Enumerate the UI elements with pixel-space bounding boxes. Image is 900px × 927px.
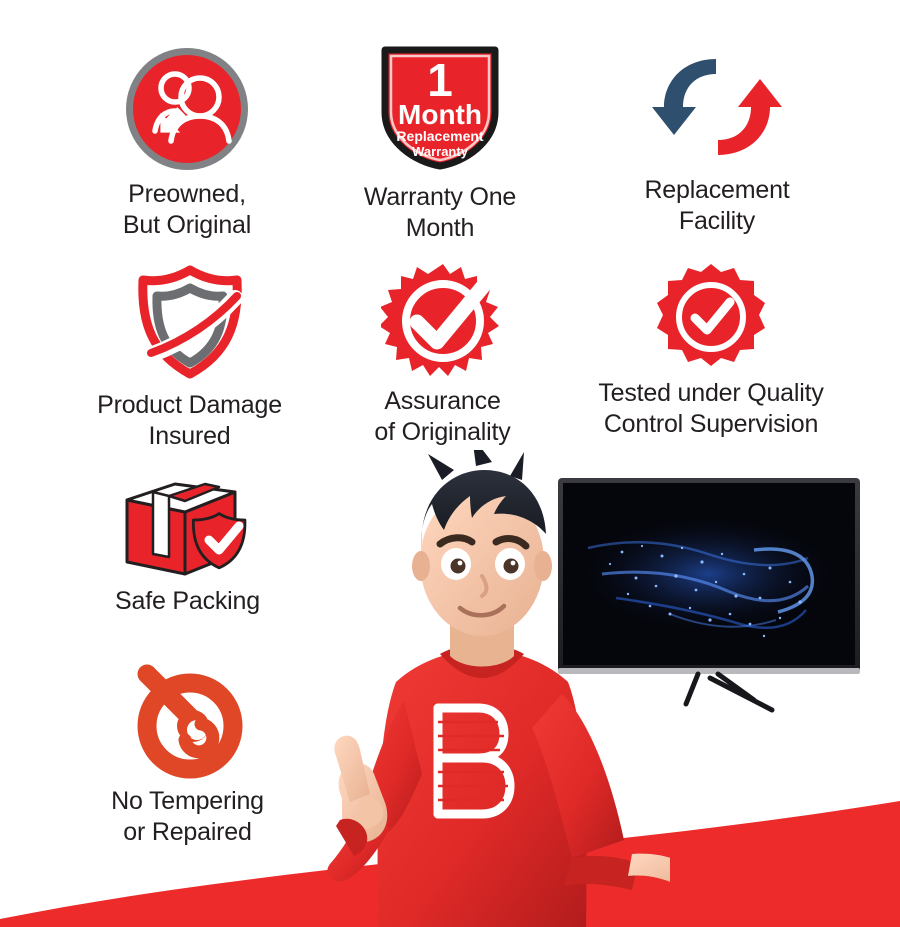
feature-caption: Replacement Facility — [644, 175, 789, 236]
badge-line-3: Replacement — [396, 128, 483, 144]
damage-shield-icon — [127, 262, 253, 384]
replacement-arrows-icon — [652, 45, 782, 169]
feature-caption: Assurance of Originality — [374, 386, 510, 447]
feature-caption: Warranty One Month — [364, 182, 516, 243]
feature-warranty: 1 Month Replacement Warranty Warranty On… — [330, 40, 550, 243]
feature-replacement: Replacement Facility — [592, 45, 842, 236]
feature-caption: Preowned, But Original — [123, 179, 251, 240]
feature-tamper: No Tempering or Repaired — [75, 662, 300, 847]
safe-packing-box-shield-icon — [113, 470, 263, 580]
badge-line-4: Warranty — [412, 144, 469, 159]
assurance-starburst-check-icon — [381, 262, 505, 380]
feature-packing: Safe Packing — [75, 470, 300, 617]
preowned-user-circle-icon — [123, 45, 251, 173]
feature-caption: Product Damage Insured — [97, 390, 282, 451]
feature-caption: Safe Packing — [115, 586, 260, 617]
hero-illustration — [300, 440, 900, 927]
no-tempering-wrench-icon — [127, 662, 249, 780]
feature-damage: Product Damage Insured — [62, 262, 317, 451]
feature-caption: No Tempering or Repaired — [111, 786, 264, 847]
feature-tested: Tested under Quality Control Supervision — [566, 262, 856, 439]
warranty-shield-badge-icon: 1 Month Replacement Warranty — [375, 40, 505, 176]
feature-assurance: Assurance of Originality — [340, 262, 545, 447]
quality-badge-check-icon — [656, 262, 766, 372]
feature-caption: Tested under Quality Control Supervision — [598, 378, 823, 439]
brand-mascot-character — [300, 450, 670, 927]
badge-line-2: Month — [398, 99, 482, 130]
feature-preowned: Preowned, But Original — [62, 45, 312, 240]
infographic-canvas: Preowned, But Original 1 Month Replaceme… — [0, 0, 900, 927]
